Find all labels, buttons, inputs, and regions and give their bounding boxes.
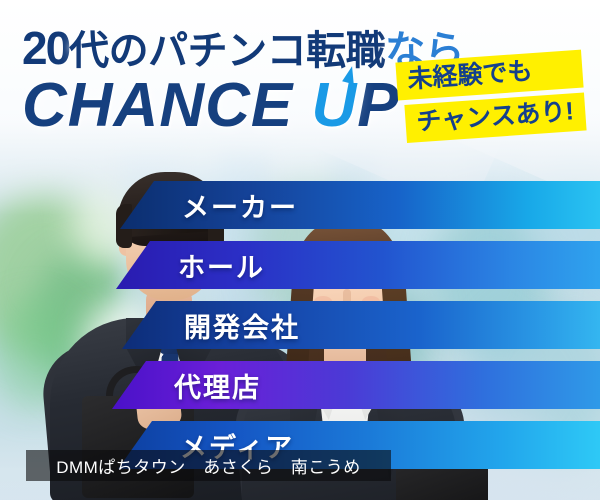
category-label: ホール (178, 246, 265, 285)
category-button-developer[interactable]: 開発会社 (122, 301, 600, 349)
logo-letter-u: U (311, 70, 357, 141)
category-label: 開発会社 (184, 306, 300, 345)
advertisement-banner[interactable]: 20代のパチンコ転職なら CHANCE UP 未経験でも チャンスあり! メーカ… (0, 0, 600, 500)
headline-number: 20 (22, 22, 69, 74)
credit-text: DMMぱちタウン あさくら 南こうめ (56, 453, 361, 478)
category-button-hall[interactable]: ホール (116, 241, 600, 289)
category-button-agency[interactable]: 代理店 (112, 361, 600, 409)
category-label: メーカー (182, 186, 298, 225)
credit-strip: DMMぱちタウン あさくら 南こうめ (26, 450, 391, 481)
logo-letter-p: P (357, 71, 399, 140)
category-button-list: メーカー ホール 開発会社 代理店 メディア (0, 181, 600, 481)
logo-word-chance: CHANCE (22, 71, 293, 140)
category-button-maker[interactable]: メーカー (120, 181, 600, 229)
headline-main: 代のパチンコ転職 (69, 29, 385, 73)
brand-logo: CHANCE UP (22, 70, 400, 141)
status-badge: 未経験でも チャンスあり! (395, 50, 586, 144)
category-label: 代理店 (174, 366, 261, 405)
